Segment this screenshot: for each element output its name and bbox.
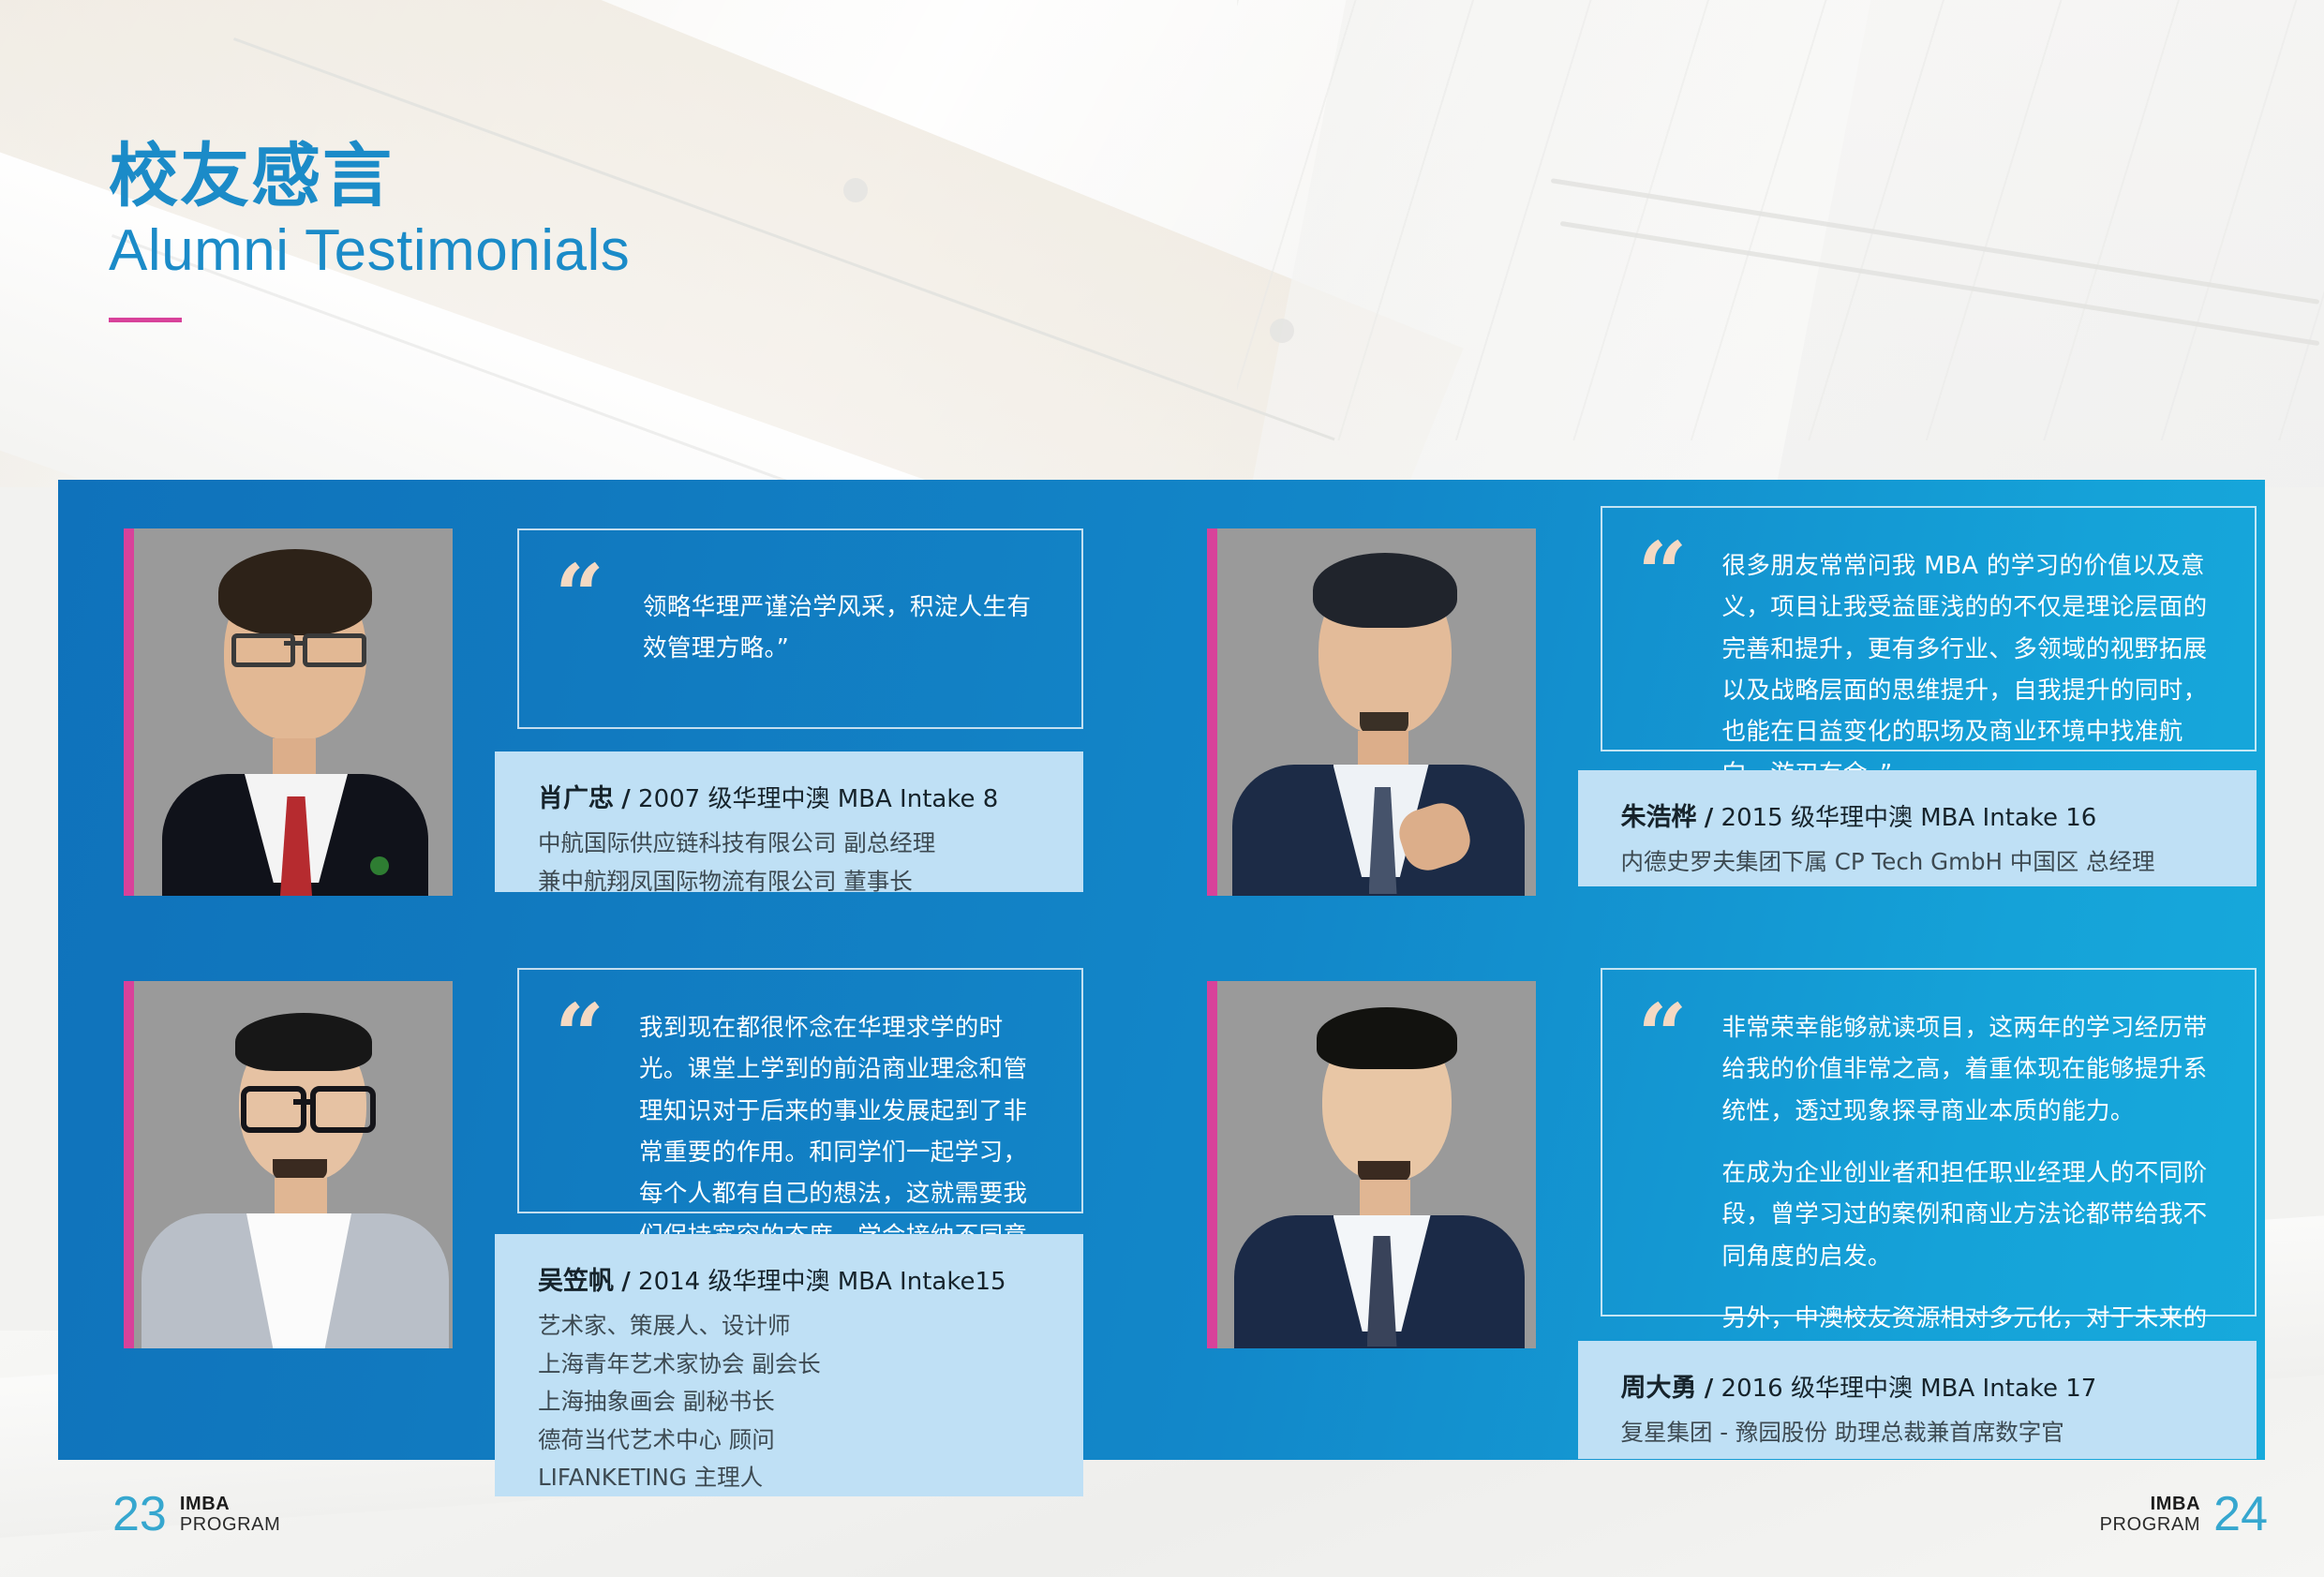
- bg-spot-1: [843, 178, 868, 202]
- portrait-photo: [1217, 981, 1536, 1348]
- name-separator: /: [621, 785, 631, 813]
- alumnus-intake: 2007 级华理中澳 MBA Intake 8: [638, 785, 998, 813]
- alumnus-name-line: 朱浩桦 / 2015 级华理中澳 MBA Intake 16: [1621, 798, 2219, 838]
- accent-bar: [1207, 528, 1217, 896]
- brand-line-1: IMBA: [180, 1494, 281, 1514]
- alumnus-name-line: 吴笠帆 / 2014 级华理中澳 MBA Intake15: [538, 1262, 1046, 1302]
- page-header: 校友感言 Alumni Testimonials: [109, 141, 630, 322]
- page-title-en: Alumni Testimonials: [109, 217, 630, 284]
- testimonial-card-zhu-haohua: “ 很多朋友常常问我 MBA 的学习的价值以及意义，项目让我受益匪浅的的不仅是理…: [1162, 480, 2266, 970]
- accent-bar: [1207, 981, 1217, 1348]
- alumnus-name: 朱浩桦: [1621, 803, 1697, 832]
- brand-line-2: PROGRAM: [2100, 1514, 2201, 1535]
- testimonials-grid: “ 领略华理严谨治学风采，积淀人生有效管理方略。” 肖广忠 / 2007 级华理…: [58, 480, 2265, 1460]
- alumnus-info-card: 朱浩桦 / 2015 级华理中澳 MBA Intake 16 内德史罗夫集团下属…: [1578, 770, 2257, 886]
- portrait-frame: [1207, 981, 1536, 1348]
- alumnus-role: 上海抽象画会 副秘书长: [538, 1383, 1046, 1421]
- brand-logo-left: IMBA PROGRAM: [180, 1494, 281, 1536]
- testimonials-panel: “ 领略华理严谨治学风采，积淀人生有效管理方略。” 肖广忠 / 2007 级华理…: [58, 480, 2265, 1460]
- alumnus-intake: 2016 级华理中澳 MBA Intake 17: [1721, 1375, 2097, 1403]
- testimonial-card-wu-lifan: “ 我到现在都很怀念在华理求学的时光。课堂上学到的前沿商业理念和管理知识对于后来…: [58, 970, 1162, 1460]
- name-separator: /: [1705, 804, 1714, 832]
- alumnus-role: 德荷当代艺术中心 顾问: [538, 1421, 1046, 1460]
- portrait-frame: [124, 528, 453, 896]
- portrait-photo: [1217, 528, 1536, 896]
- alumnus-info-card: 周大勇 / 2016 级华理中澳 MBA Intake 17 复星集团 - 豫园…: [1578, 1341, 2257, 1459]
- quote-mark-icon: “: [1638, 992, 1688, 1079]
- page-title-cn: 校友感言: [109, 141, 630, 214]
- quote-text: 领略华理严谨治学风采，积淀人生有效管理方略。”: [559, 568, 1040, 670]
- accent-bar: [124, 528, 134, 896]
- portrait-photo: [134, 981, 453, 1348]
- alumnus-name: 吴笠帆: [538, 1267, 614, 1296]
- footer-right: IMBA PROGRAM 24: [2100, 1490, 2268, 1539]
- quote-mark-icon: “: [555, 553, 604, 639]
- page-number-left: 23: [112, 1490, 167, 1539]
- testimonial-card-xiao-guangzhong: “ 领略华理严谨治学风采，积淀人生有效管理方略。” 肖广忠 / 2007 级华理…: [58, 480, 1162, 970]
- alumnus-name: 肖广忠: [538, 784, 614, 813]
- alumnus-role: 兼中航翔凤国际物流有限公司 董事长: [538, 863, 1046, 901]
- alumnus-role: 中航国际供应链科技有限公司 副总经理: [538, 825, 1046, 863]
- alumnus-name: 周大勇: [1621, 1374, 1697, 1403]
- portrait-frame: [124, 981, 453, 1348]
- alumnus-info-card: 吴笠帆 / 2014 级华理中澳 MBA Intake15 艺术家、策展人、设计…: [495, 1234, 1083, 1496]
- brand-line-2: PROGRAM: [180, 1514, 281, 1535]
- quote-mark-icon: “: [1638, 530, 1688, 617]
- quote-card: “ 我到现在都很怀念在华理求学的时光。课堂上学到的前沿商业理念和管理知识对于后来…: [517, 968, 1083, 1213]
- quote-card: “ 很多朋友常常问我 MBA 的学习的价值以及意义，项目让我受益匪浅的的不仅是理…: [1601, 506, 2257, 751]
- quote-paragraph: 在成为企业创业者和担任职业经理人的不同阶段，曾学习过的案例和商业方法论都带给我不…: [1722, 1153, 2213, 1277]
- portrait-photo: [134, 528, 453, 896]
- alumnus-name-line: 肖广忠 / 2007 级华理中澳 MBA Intake 8: [538, 780, 1046, 819]
- title-accent-rule: [109, 318, 182, 322]
- quote-paragraph: 非常荣幸能够就读项目，这两年的学习经历带给我的价值非常之高，着重体现在能够提升系…: [1722, 1007, 2213, 1132]
- brand-logo-right: IMBA PROGRAM: [2100, 1494, 2201, 1536]
- footer-left: 23 IMBA PROGRAM: [112, 1490, 280, 1539]
- alumnus-intake: 2014 级华理中澳 MBA Intake15: [638, 1268, 1006, 1296]
- alumnus-role: 艺术家、策展人、设计师: [538, 1307, 1046, 1346]
- quote-paragraph: 很多朋友常常问我 MBA 的学习的价值以及意义，项目让我受益匪浅的的不仅是理论层…: [1722, 545, 2213, 795]
- alumnus-info-card: 肖广忠 / 2007 级华理中澳 MBA Intake 8 中航国际供应链科技有…: [495, 751, 1083, 892]
- name-separator: /: [1705, 1375, 1714, 1403]
- quote-card: “ 非常荣幸能够就读项目，这两年的学习经历带给我的价值非常之高，着重体现在能够提…: [1601, 968, 2257, 1317]
- alumnus-role: 内德史罗夫集团下属 CP Tech GmbH 中国区 总经理: [1621, 843, 2219, 882]
- portrait-frame: [1207, 528, 1536, 896]
- bg-glass-railing: [1237, 0, 2324, 440]
- alumnus-intake: 2015 级华理中澳 MBA Intake 16: [1721, 804, 2097, 832]
- quote-mark-icon: “: [555, 992, 604, 1079]
- quote-paragraph: 领略华理严谨治学风采，积淀人生有效管理方略。”: [643, 587, 1040, 670]
- page-footer: 23 IMBA PROGRAM IMBA PROGRAM 24: [0, 1490, 2324, 1565]
- bg-spot-2: [1270, 319, 1294, 343]
- alumnus-role: 复星集团 - 豫园股份 助理总裁兼首席数字官: [1621, 1414, 2219, 1452]
- quote-text: 很多朋友常常问我 MBA 的学习的价值以及意义，项目让我受益匪浅的的不仅是理论层…: [1642, 545, 2213, 795]
- accent-bar: [124, 981, 134, 1348]
- alumnus-role: 上海青年艺术家协会 副会长: [538, 1346, 1046, 1384]
- quote-card: “ 领略华理严谨治学风采，积淀人生有效管理方略。”: [517, 528, 1083, 729]
- testimonial-card-zhou-dayong: “ 非常荣幸能够就读项目，这两年的学习经历带给我的价值非常之高，着重体现在能够提…: [1162, 970, 2266, 1460]
- page-number-right: 24: [2213, 1490, 2268, 1539]
- alumnus-name-line: 周大勇 / 2016 级华理中澳 MBA Intake 17: [1621, 1369, 2219, 1408]
- name-separator: /: [621, 1268, 631, 1296]
- brand-line-1: IMBA: [2100, 1494, 2201, 1514]
